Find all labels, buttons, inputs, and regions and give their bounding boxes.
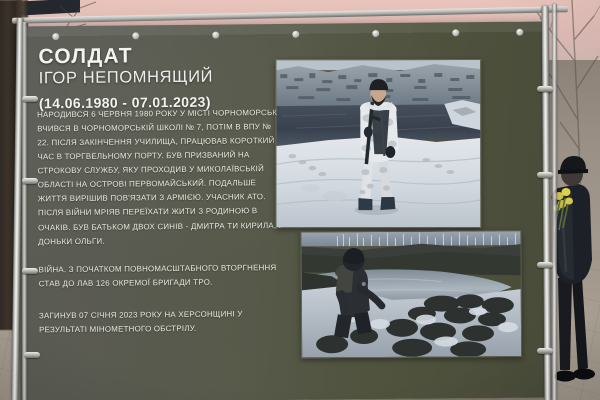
soldier-crouching-riverbank-photo <box>300 230 522 358</box>
memorial-banner: СОЛДАТ ІГОР НЕПОМНЯЩИЙ (14.06.1980 - 07.… <box>16 21 548 400</box>
frame-clip <box>24 352 40 358</box>
banner-grommet <box>516 29 523 36</box>
frame-clip <box>537 172 553 178</box>
frame-clip <box>22 178 38 184</box>
frame-clip <box>537 348 553 354</box>
frame-clip <box>537 86 553 92</box>
banner-grommet <box>212 32 219 39</box>
banner-grommet <box>52 33 59 40</box>
banner-heading: СОЛДАТ ІГОР НЕПОМНЯЩИЙ (14.06.1980 - 07.… <box>38 45 213 112</box>
soldier-standing-winter-photo <box>275 59 481 228</box>
banner-biography-text: НАРОДИВСЯ 6 ЧЕРВНЯ 1980 РОКУ У МІСТІ ЧОР… <box>37 106 285 337</box>
war-paragraph: ВІЙНА. З ПОЧАТКОМ ПОВНОМАСШТАБНОГО ВТОРГ… <box>38 261 284 291</box>
biography-paragraph: НАРОДИВСЯ 6 ЧЕРВНЯ 1980 РОКУ У МІСТІ ЧОР… <box>37 106 284 249</box>
frame-clip <box>22 268 38 274</box>
frame-post-left-inner <box>22 22 27 400</box>
screenshot-root: СОЛДАТ ІГОР НЕПОМНЯЩИЙ (14.06.1980 - 07.… <box>0 0 600 400</box>
frame-clip <box>537 262 553 268</box>
banner-grommet <box>132 32 139 39</box>
frame-clip <box>22 96 38 102</box>
banner-grommet <box>452 29 459 36</box>
banner-grommet <box>372 30 379 37</box>
heading-soldier-word: СОЛДАТ <box>38 45 213 68</box>
frame-post-right-inner <box>552 4 557 400</box>
death-paragraph: ЗАГИНУВ 07 СІЧНЯ 2023 РОКУ НА ХЕРСОНЩИНІ… <box>39 307 285 337</box>
banner-grommet <box>292 31 299 38</box>
heading-soldier-name: ІГОР НЕПОМНЯЩИЙ <box>39 68 214 89</box>
